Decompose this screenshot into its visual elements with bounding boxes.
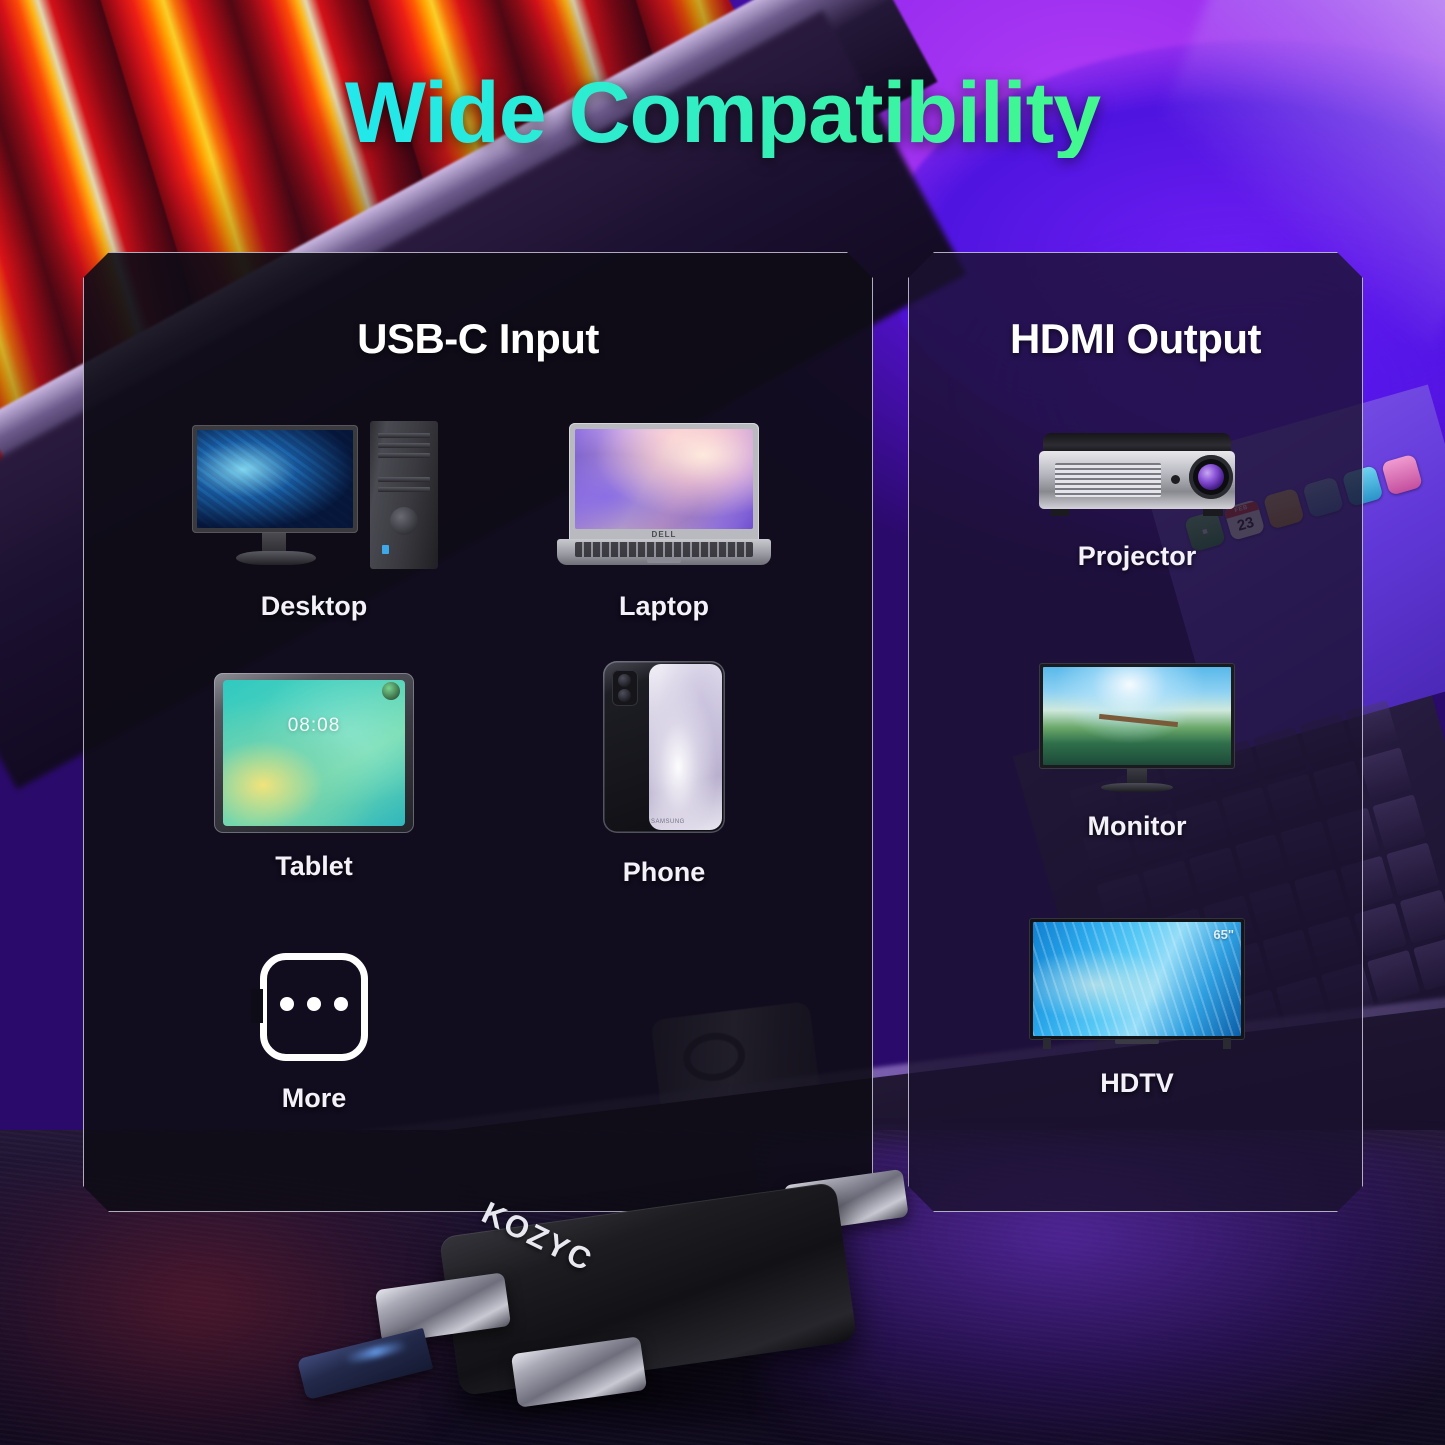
device-label-tablet: Tablet xyxy=(275,851,353,882)
tablet-clock: 08:08 xyxy=(223,715,405,737)
tablet-icon: 08:08 xyxy=(214,673,414,833)
product-marketing-image: ■ FEB 23 Wide Compatibility USB-C Input xyxy=(0,0,1445,1445)
device-label-laptop: Laptop xyxy=(619,591,709,622)
hdmi-output-panel: HDMI Output Projector M xyxy=(908,252,1363,1212)
device-label-monitor: Monitor xyxy=(1088,811,1187,842)
usb-c-input-panel: USB-C Input Desktop xyxy=(83,252,873,1212)
device-cell-hdtv: 65" HDTV xyxy=(1027,918,1247,1099)
projector-icon xyxy=(1039,433,1235,519)
panel-heading-input: USB-C Input xyxy=(84,315,872,363)
television-icon: 65" xyxy=(1029,918,1245,1050)
device-cell-projector: Projector xyxy=(1037,433,1237,572)
smartphone-icon: SAMSUNG xyxy=(603,661,725,833)
device-cell-monitor: Monitor xyxy=(1037,663,1237,842)
device-cell-laptop: DELL Laptop xyxy=(544,421,784,622)
page-title: Wide Compatibility xyxy=(0,68,1445,158)
device-label-phone: Phone xyxy=(623,857,706,888)
more-ellipsis-icon xyxy=(260,953,368,1061)
device-label-more: More xyxy=(282,1083,347,1114)
red-ambient-glow xyxy=(0,1180,480,1445)
device-cell-more: More xyxy=(194,953,434,1114)
device-cell-desktop: Desktop xyxy=(184,421,444,622)
laptop-icon: DELL xyxy=(555,421,773,571)
monitor-icon xyxy=(1039,663,1235,793)
panel-heading-output: HDMI Output xyxy=(909,315,1362,363)
device-label-desktop: Desktop xyxy=(261,591,368,622)
laptop-brand-logo: DELL xyxy=(569,530,759,539)
desktop-computer-icon xyxy=(184,421,444,571)
device-label-projector: Projector xyxy=(1078,541,1197,572)
device-cell-phone: SAMSUNG Phone xyxy=(544,661,784,888)
device-label-hdtv: HDTV xyxy=(1100,1068,1174,1099)
device-cell-tablet: 08:08 Tablet xyxy=(194,673,434,882)
tv-size-badge: 65" xyxy=(1213,927,1234,942)
phone-brand-logo: SAMSUNG xyxy=(651,819,685,825)
